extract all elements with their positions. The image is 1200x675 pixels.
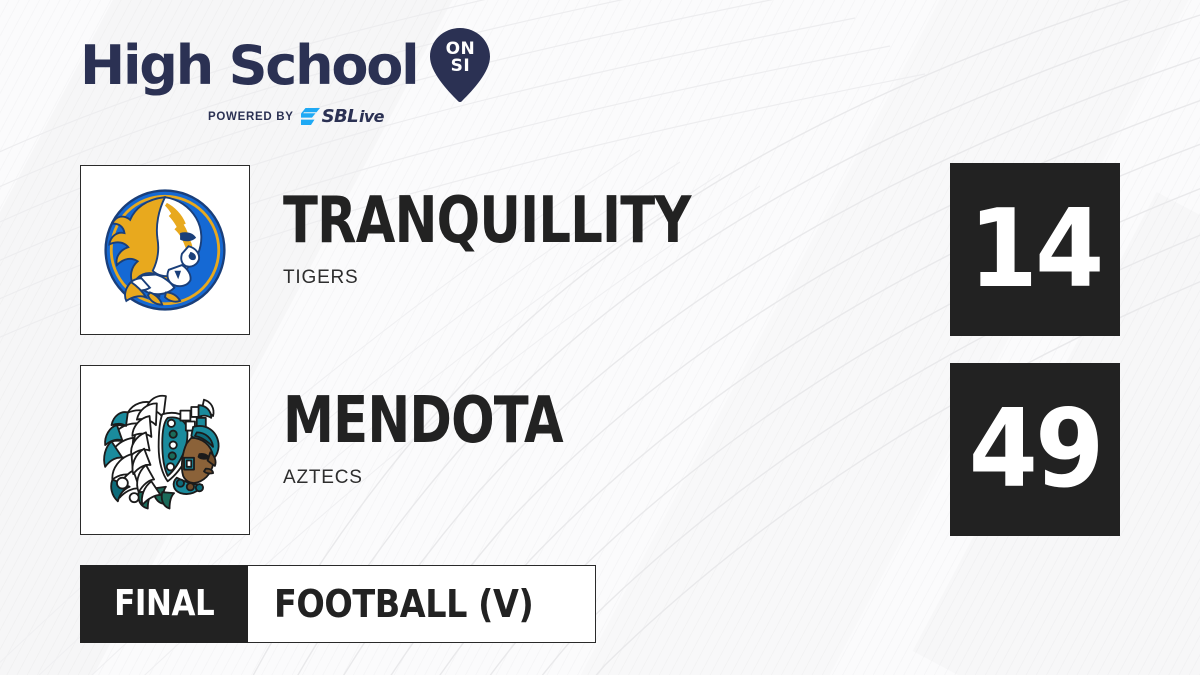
powered-by-row: POWERED BY SBL ive bbox=[80, 106, 510, 127]
powered-by-label: POWERED BY bbox=[208, 111, 294, 123]
sport-label: FOOTBALL (V) bbox=[274, 585, 533, 623]
team-score-box: 49 bbox=[950, 363, 1120, 536]
team-row: MENDOTA AZTECS 49 bbox=[80, 365, 1120, 535]
brand-header: High School ON SI POWERED BY SBL ive bbox=[80, 30, 510, 135]
status-badge: FINAL bbox=[80, 565, 248, 643]
sblive-primary-text: SBL bbox=[322, 106, 358, 127]
team-info: MENDOTA AZTECS bbox=[283, 389, 903, 489]
team-mascot: TIGERS bbox=[283, 267, 903, 289]
team-row: TRANQUILLITY TIGERS 14 bbox=[80, 165, 1120, 335]
tiger-head-logo bbox=[99, 184, 231, 316]
team-score: 49 bbox=[969, 396, 1102, 504]
team-logo-box bbox=[80, 365, 250, 535]
on-si-pin-icon: ON SI bbox=[429, 28, 491, 102]
team-mascot: AZTECS bbox=[283, 467, 903, 489]
status-state-label: FINAL bbox=[114, 586, 214, 622]
team-name: TRANQUILLITY bbox=[283, 189, 779, 253]
team-info: TRANQUILLITY TIGERS bbox=[283, 189, 903, 289]
sblive-logo: SBL ive bbox=[301, 106, 384, 127]
team-logo-box bbox=[80, 165, 250, 335]
scoreboard-graphic: High School ON SI POWERED BY SBL ive bbox=[0, 0, 1200, 675]
game-status-bar: FINAL FOOTBALL (V) bbox=[80, 565, 596, 643]
sblive-s-glyph bbox=[301, 108, 320, 125]
on-si-pin-line2: SI bbox=[429, 58, 491, 75]
team-name: MENDOTA bbox=[283, 389, 779, 453]
brand-wordmark: High School bbox=[80, 38, 417, 94]
team-score: 14 bbox=[969, 196, 1102, 304]
team-score-box: 14 bbox=[950, 163, 1120, 336]
aztec-warrior-logo bbox=[97, 387, 233, 514]
sblive-secondary-text: ive bbox=[359, 107, 384, 126]
sport-label-box: FOOTBALL (V) bbox=[248, 565, 596, 643]
